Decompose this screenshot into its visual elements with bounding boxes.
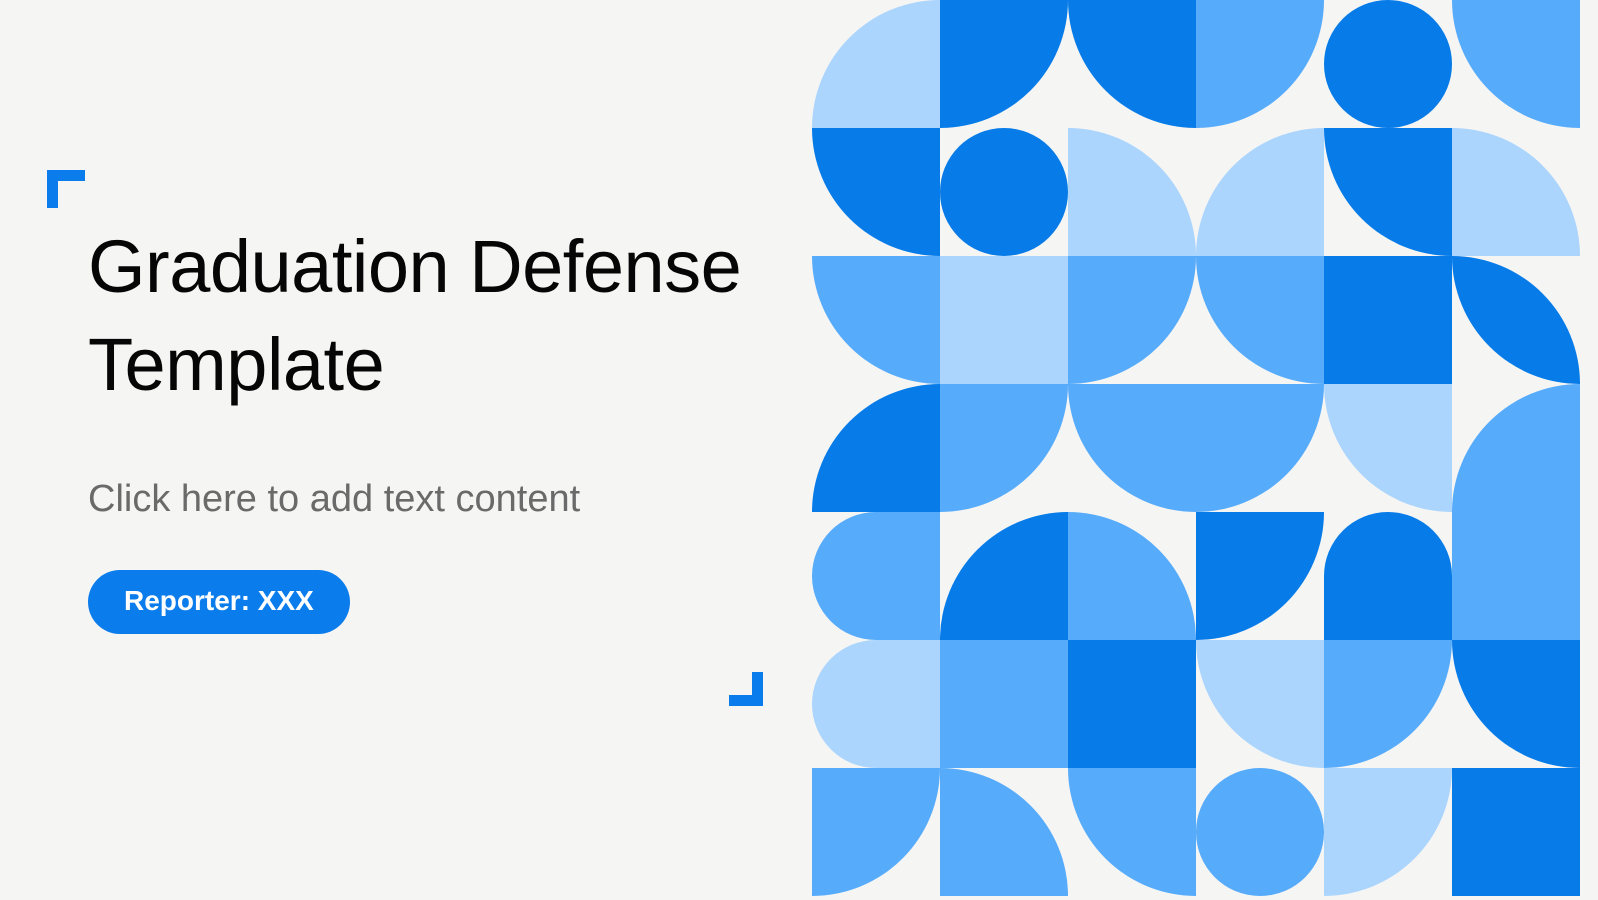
page-title[interactable]: Graduation Defense Template xyxy=(88,218,808,415)
pattern-tile xyxy=(812,384,940,512)
pattern-tile xyxy=(1324,256,1452,384)
pattern-tile xyxy=(940,640,1068,768)
pattern-tile xyxy=(812,0,940,128)
geometric-pattern xyxy=(812,0,1598,900)
pattern-tile xyxy=(1068,512,1196,640)
pattern-tile xyxy=(812,512,940,640)
pattern-tile xyxy=(940,384,1068,512)
corner-bracket-bottom-right-icon xyxy=(729,672,763,706)
pattern-tile xyxy=(1068,256,1196,384)
pattern-tile xyxy=(940,768,1068,896)
pattern-tile xyxy=(940,256,1068,384)
pattern-tile xyxy=(1196,640,1324,768)
pattern-tile xyxy=(1452,512,1580,640)
subtitle-placeholder[interactable]: Click here to add text content xyxy=(88,415,808,523)
pattern-tile xyxy=(812,128,940,256)
pattern-tile xyxy=(812,768,940,896)
pattern-tile xyxy=(1452,0,1580,128)
corner-bracket-top-left-icon xyxy=(47,170,85,208)
pattern-tile xyxy=(1068,640,1196,768)
pattern-tile xyxy=(940,128,1068,256)
pattern-tile xyxy=(1452,384,1580,512)
pattern-tile xyxy=(1324,384,1452,512)
pattern-tile xyxy=(1196,128,1324,256)
slide-canvas: Graduation Defense Template Click here t… xyxy=(0,0,1598,900)
pattern-tile xyxy=(1324,0,1452,128)
pattern-tile xyxy=(1068,0,1196,128)
title-block: Graduation Defense Template Click here t… xyxy=(88,218,808,634)
pattern-tile xyxy=(1068,128,1196,256)
pattern-tile xyxy=(1068,384,1196,512)
pattern-tile xyxy=(1196,384,1324,512)
pattern-tile xyxy=(812,256,940,384)
pattern-tile xyxy=(1452,128,1580,256)
pattern-tile xyxy=(1324,640,1452,768)
pattern-tile xyxy=(1452,768,1580,896)
pattern-tile xyxy=(812,640,940,768)
reporter-button[interactable]: Reporter: XXX xyxy=(88,570,350,634)
pattern-tile xyxy=(1324,512,1452,640)
pattern-tile xyxy=(1324,128,1452,256)
pattern-tile xyxy=(940,0,1068,128)
pattern-tile xyxy=(940,512,1068,640)
pattern-tile xyxy=(1196,512,1324,640)
pattern-tile xyxy=(1196,256,1324,384)
pattern-tile xyxy=(1452,256,1580,384)
pattern-tile xyxy=(1068,768,1196,896)
pattern-tile xyxy=(1324,768,1452,896)
pattern-tile xyxy=(1196,0,1324,128)
pattern-tile xyxy=(1196,768,1324,896)
pattern-tile xyxy=(1452,640,1580,768)
